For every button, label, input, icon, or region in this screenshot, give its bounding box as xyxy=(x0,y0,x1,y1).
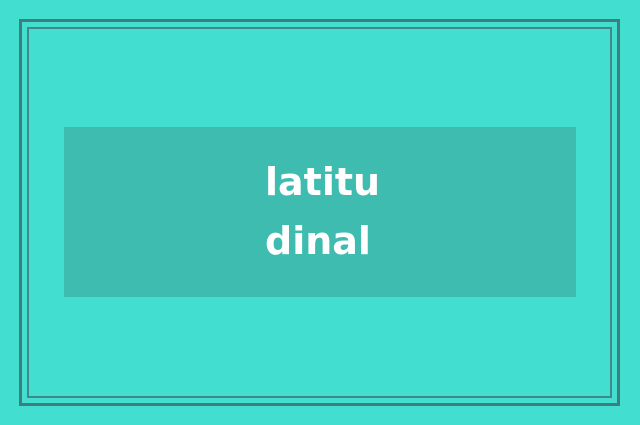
panel-text-line-1: latitu xyxy=(265,153,380,212)
image-canvas: latitu dinal xyxy=(0,0,640,425)
center-text-panel: latitu dinal xyxy=(64,127,576,297)
panel-text-line-2: dinal xyxy=(265,212,371,271)
panel-text-block: latitu dinal xyxy=(265,153,380,271)
